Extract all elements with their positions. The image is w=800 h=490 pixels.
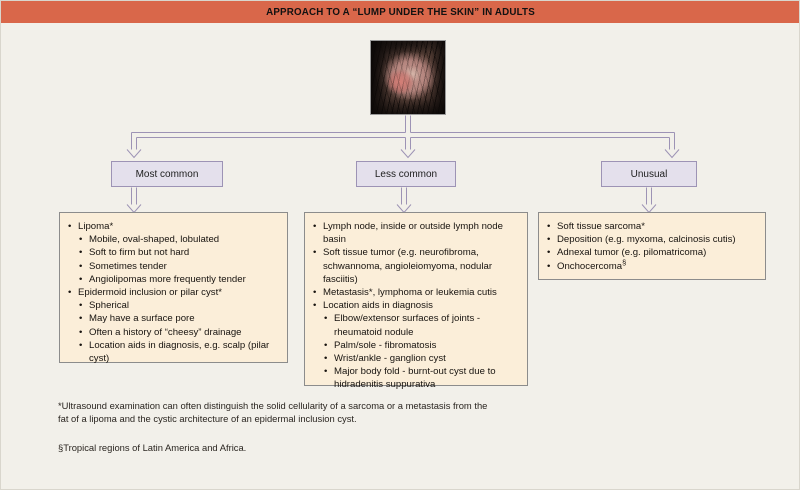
list-item: Mobile, oval-shaped, lobulated [78,233,278,246]
category-label-unusual: Unusual [631,169,668,180]
list-item: Often a history of “cheesy” drainage [78,326,278,339]
footnote-asterisk: *Ultrasound examination can often distin… [58,399,488,425]
list-unusual: Soft tissue sarcoma* Deposition (e.g. my… [546,220,756,273]
figure-header-bar: APPROACH TO A “LUMP UNDER THE SKIN” IN A… [1,1,800,23]
list-item: Location aids in diagnosis, e.g. scalp (… [78,339,278,365]
content-box-unusual: Soft tissue sarcoma* Deposition (e.g. my… [538,212,766,280]
list-item-label: Onchocercoma [557,261,622,272]
category-box-less-common[interactable]: Less common [356,161,456,187]
list-item-label: Metastasis*, lymphoma or leukemia cutis [323,287,497,298]
list-item: Epidermoid inclusion or pilar cyst* Sphe… [67,286,278,365]
list-item: Soft tissue tumor (e.g. neurofibroma, sc… [312,246,518,286]
arrowhead-col2-category [401,150,415,158]
list-item: Deposition (e.g. myxoma, calcinosis cuti… [546,233,756,246]
sublist: Spherical May have a surface pore Often … [78,299,278,365]
list-item-label: Deposition (e.g. myxoma, calcinosis cuti… [557,234,736,245]
footnote-marker-section: § [622,257,626,266]
list-item: May have a surface pore [78,312,278,325]
category-box-unusual[interactable]: Unusual [601,161,697,187]
list-most-common: Lipoma* Mobile, oval-shaped, lobulated S… [67,220,278,365]
list-item-label: Lymph node, inside or outside lymph node… [323,221,503,245]
list-item: Wrist/ankle - ganglion cyst [323,352,518,365]
list-less-common: Lymph node, inside or outside lymph node… [312,220,518,392]
list-item: Sometimes tender [78,260,278,273]
list-item-label: Epidermoid inclusion or pilar cyst* [78,287,222,298]
list-item: Soft tissue sarcoma* [546,220,756,233]
photo-vignette [371,41,445,114]
list-item: Major body fold - burnt-out cyst due to … [323,365,518,391]
footnote-section: §Tropical regions of Latin America and A… [58,441,488,454]
arrowhead-col3-category [665,150,679,158]
sublist: Mobile, oval-shaped, lobulated Soft to f… [78,233,278,286]
page-title: APPROACH TO A “LUMP UNDER THE SKIN” IN A… [267,6,536,18]
list-item: Lipoma* Mobile, oval-shaped, lobulated S… [67,220,278,286]
list-item-label: Lipoma* [78,221,113,232]
list-item: Metastasis*, lymphoma or leukemia cutis [312,286,518,299]
scalp-lump-photo [370,40,446,115]
figure-panel: APPROACH TO A “LUMP UNDER THE SKIN” IN A… [0,0,800,490]
list-item-label: Soft tissue sarcoma* [557,221,645,232]
list-item: Soft to firm but not hard [78,246,278,259]
list-item: Spherical [78,299,278,312]
arrowhead-col1-category [127,150,141,158]
content-box-most-common: Lipoma* Mobile, oval-shaped, lobulated S… [59,212,288,363]
list-item: Onchocercoma§ [546,260,756,273]
list-item-label: Soft tissue tumor (e.g. neurofibroma, sc… [323,247,492,284]
list-item: Elbow/extensor surfaces of joints - rheu… [323,312,518,338]
list-item-label: Location aids in diagnosis [323,300,433,311]
list-item: Palm/sole - fibromatosis [323,339,518,352]
list-item: Angiolipomas more frequently tender [78,273,278,286]
list-item: Lymph node, inside or outside lymph node… [312,220,518,246]
category-label-less-common: Less common [375,169,437,180]
list-item: Adnexal tumor (e.g. pilomatricoma) [546,246,756,259]
sublist: Elbow/extensor surfaces of joints - rheu… [323,312,518,391]
category-box-most-common[interactable]: Most common [111,161,223,187]
list-item-label: Adnexal tumor (e.g. pilomatricoma) [557,247,706,258]
content-box-less-common: Lymph node, inside or outside lymph node… [304,212,528,386]
list-item: Location aids in diagnosis Elbow/extenso… [312,299,518,391]
category-label-most-common: Most common [136,169,199,180]
